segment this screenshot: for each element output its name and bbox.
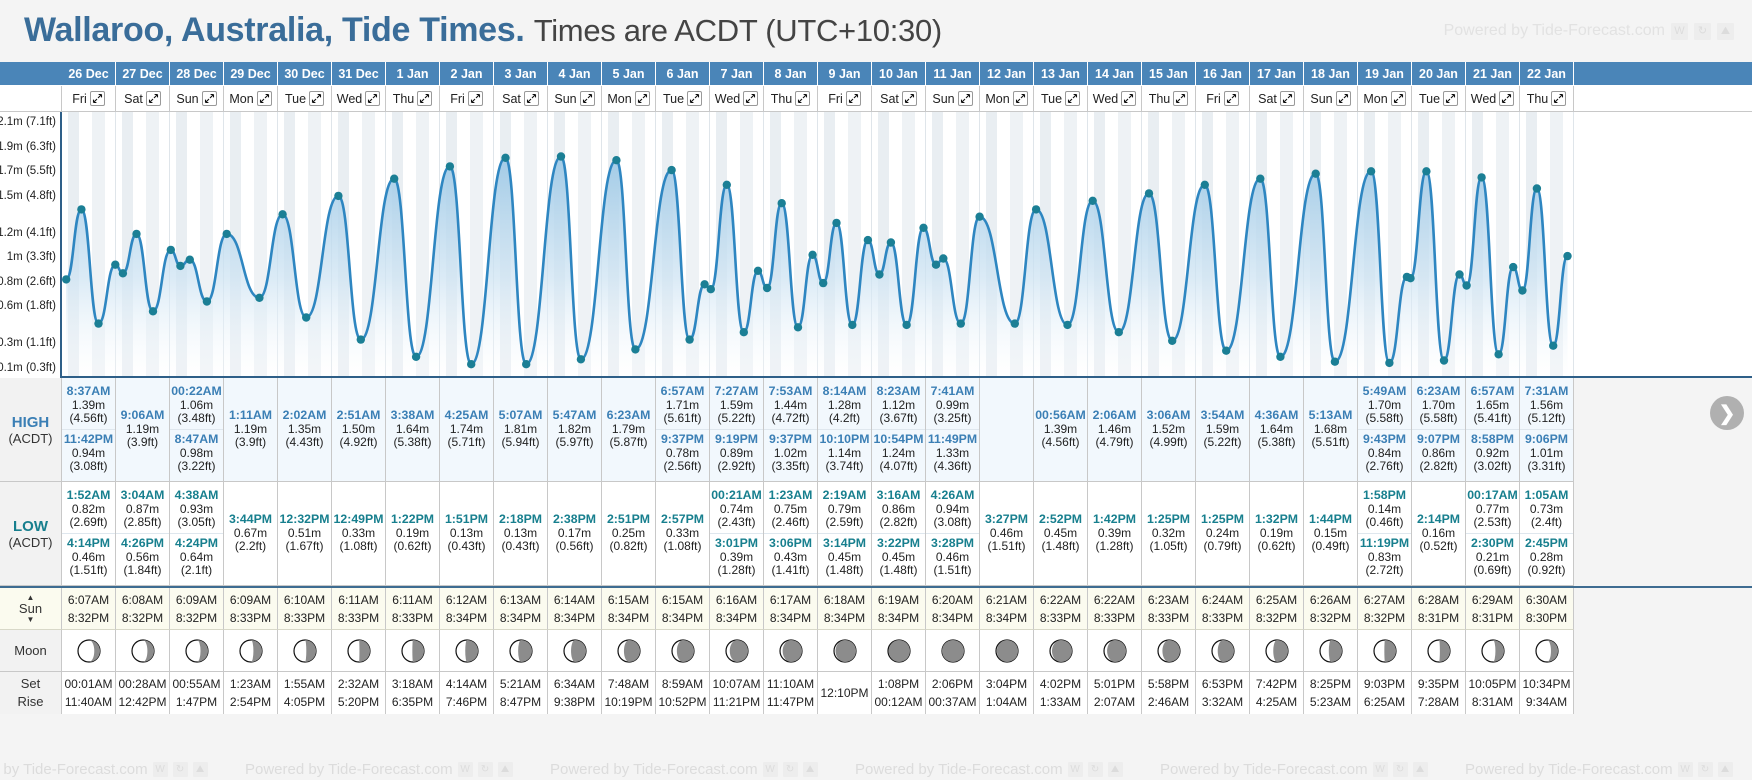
low-tide-event: 2:30PM0.21m(0.69ft): [1466, 533, 1519, 579]
tide-height-ft: (0.43ft): [440, 540, 493, 554]
moon-rise-time: 4:05PM: [284, 693, 325, 711]
date-header-cell[interactable]: 4 Jan: [548, 62, 602, 85]
weekday-label: Sun: [1310, 92, 1332, 106]
expand-icon[interactable]: [743, 91, 758, 106]
tide-height-ft: (5.58ft): [1358, 412, 1411, 426]
expand-icon[interactable]: [309, 91, 324, 106]
moon-setrise-cell: 2:32AM5:20PM: [332, 672, 386, 714]
tide-height-ft: (4.56ft): [62, 412, 115, 426]
expand-icon[interactable]: [202, 91, 217, 106]
tide-height-m: 0.25m: [602, 527, 655, 541]
weekday-cell: Wed: [710, 86, 764, 111]
moon-set-time: 10:34PM: [1522, 675, 1570, 693]
date-header-cell[interactable]: 11 Jan: [926, 62, 980, 85]
tide-height-ft: (3.74ft): [818, 460, 871, 474]
tide-height-ft: (2.92ft): [710, 460, 763, 474]
high-tide-event: 5:47AM1.82m(5.97ft): [548, 408, 601, 451]
tide-height-ft: (3.02ft): [1466, 460, 1519, 474]
low-tide-event: 3:16AM0.86m(2.82ft): [872, 488, 925, 531]
expand-icon[interactable]: [417, 91, 432, 106]
high-tide-cell: 8:37AM1.39m(4.56ft)11:42PM0.94m(3.08ft): [62, 378, 116, 482]
low-tide-event: 11:19PM0.83m(2.72ft): [1358, 533, 1411, 579]
moon-cell: [386, 630, 440, 672]
expand-icon[interactable]: [1391, 91, 1406, 106]
date-header-cell[interactable]: 26 Dec: [62, 62, 116, 85]
tide-height-ft: (1.48ft): [1034, 540, 1087, 554]
weekday-cell: Sat: [116, 86, 170, 111]
tide-time: 1:32PM: [1250, 513, 1303, 527]
footer-watermark-icon-3: ⛰: [193, 762, 208, 777]
weekday-cell: Sun: [1304, 86, 1358, 111]
tide-height-ft: (2.2ft): [224, 540, 277, 554]
tide-height-ft: (2.85ft): [116, 516, 169, 530]
tide-height-ft: (3.05ft): [170, 516, 223, 530]
moon-phase-icon: [1265, 639, 1289, 663]
moon-phase-icon: [509, 639, 533, 663]
moon-cell: [1250, 630, 1304, 672]
moon-cell: [494, 630, 548, 672]
moon-setrise-cell: 2:06PM00:37AM: [926, 672, 980, 714]
moon-phase-icon: [671, 639, 695, 663]
tide-height-ft: (3.31ft): [1520, 460, 1573, 474]
moon-set-time: 5:58PM: [1148, 675, 1189, 693]
expand-icon[interactable]: [846, 91, 861, 106]
sunset-time: 8:32PM: [1256, 609, 1297, 627]
expand-icon[interactable]: [90, 91, 105, 106]
tide-height-ft: (3.08ft): [62, 460, 115, 474]
y-axis-tick-label: 1.9m (6.3ft): [0, 141, 56, 153]
tide-time: 1:51PM: [440, 513, 493, 527]
date-header-cell[interactable]: 10 Jan: [872, 62, 926, 85]
date-header-corner: [0, 62, 62, 85]
sunset-time: 8:34PM: [824, 609, 865, 627]
low-tide-cell: 2:52PM0.45m(1.48ft): [1034, 482, 1088, 586]
low-tide-event: 2:51PM0.25m(0.82ft): [602, 512, 655, 555]
expand-icon[interactable]: [257, 91, 272, 106]
weekday-row: FriSatSunMonTueWedThuFriSatSunMonTueWedT…: [0, 86, 1752, 112]
moon-setrise-cell: 11:10AM11:47PM: [764, 672, 818, 714]
sun-cell: 6:23AM8:33PM: [1142, 588, 1196, 630]
tide-time: 5:47AM: [548, 409, 601, 423]
high-tide-event: 10:10PM1.14m(3.74ft): [818, 429, 871, 475]
weekday-cell: Fri: [818, 86, 872, 111]
tide-time: 6:57AM: [1466, 385, 1519, 399]
date-header-cell[interactable]: 15 Jan: [1142, 62, 1196, 85]
weekday-label: Mon: [229, 92, 253, 106]
low-tide-event: 00:21AM0.74m(2.43ft): [710, 488, 763, 531]
tide-height-ft: (5.51ft): [1304, 436, 1357, 450]
next-page-button[interactable]: ❯: [1710, 396, 1744, 430]
sunrise-time: 6:11AM: [338, 591, 378, 609]
moon-setrise-cell: 10:07AM11:21PM: [710, 672, 764, 714]
date-header-cell[interactable]: 1 Jan: [386, 62, 440, 85]
date-header-cell[interactable]: 5 Jan: [602, 62, 656, 85]
high-tide-event: 8:14AM1.28m(4.2ft): [818, 384, 871, 427]
moon-set-label: Set: [21, 675, 41, 693]
tide-height-m: 0.39m: [710, 551, 763, 565]
sun-cell: 6:27AM8:32PM: [1358, 588, 1412, 630]
weekday-cell: Thu: [764, 86, 818, 111]
sunset-time: 8:34PM: [446, 609, 487, 627]
moon-phase-icon: [455, 639, 479, 663]
sun-cell: 6:22AM8:33PM: [1034, 588, 1088, 630]
high-tide-event: 10:54PM1.24m(4.07ft): [872, 429, 925, 475]
y-axis-tick-label: 1m (3.3ft): [7, 251, 56, 263]
moon-setrise-cell: 5:21AM8:47PM: [494, 672, 548, 714]
date-header-cell[interactable]: 13 Jan: [1034, 62, 1088, 85]
moon-label: Moon: [0, 630, 62, 672]
low-tide-event: 1:22PM0.19m(0.62ft): [386, 512, 439, 555]
moon-set-time: 2:32AM: [338, 675, 379, 693]
sunset-time: 8:33PM: [1040, 609, 1081, 627]
expand-icon[interactable]: [1173, 91, 1188, 106]
moon-setrise-cell: 12:10PM: [818, 672, 872, 714]
moon-phase-icon: [887, 639, 911, 663]
weekday-cell: Fri: [62, 86, 116, 111]
high-tide-event: 6:57AM1.71m(5.61ft): [656, 384, 709, 427]
sunset-time: 8:31PM: [1472, 609, 1513, 627]
sunset-time: 8:33PM: [338, 609, 379, 627]
expand-icon[interactable]: [795, 91, 810, 106]
high-tide-event: 11:49PM1.33m(4.36ft): [926, 429, 979, 475]
moon-phase-icon: [1481, 639, 1505, 663]
sunset-time: 8:34PM: [716, 609, 757, 627]
high-tide-event: 2:02AM1.35m(4.43ft): [278, 408, 331, 451]
tide-height-m: 0.21m: [1466, 551, 1519, 565]
date-header-cell[interactable]: 18 Jan: [1304, 62, 1358, 85]
tide-height-m: 0.24m: [1196, 527, 1249, 541]
weekday-cell: Fri: [440, 86, 494, 111]
expand-icon[interactable]: [1224, 91, 1239, 106]
moon-rise-time: 1:04AM: [986, 693, 1027, 711]
tide-height-m: 1.39m: [62, 399, 115, 413]
high-tide-event: 9:19PM0.89m(2.92ft): [710, 429, 763, 475]
expand-icon[interactable]: [635, 91, 650, 106]
tide-time: 5:13AM: [1304, 409, 1357, 423]
sunset-time: 8:32PM: [176, 609, 217, 627]
low-tide-event: 1:52AM0.82m(2.69ft): [62, 488, 115, 531]
moon-rise-time: 2:46AM: [1148, 693, 1189, 711]
weekday-label: Sun: [176, 92, 198, 106]
date-header-cell[interactable]: 17 Jan: [1250, 62, 1304, 85]
sunrise-time: 6:09AM: [230, 591, 271, 609]
sunrise-time: 6:12AM: [446, 591, 487, 609]
tide-time: 00:56AM: [1034, 409, 1087, 423]
low-tide-cell: 1:52AM0.82m(2.69ft)4:14PM0.46m(1.51ft): [62, 482, 116, 586]
date-header-cell[interactable]: 3 Jan: [494, 62, 548, 85]
chart-y-axis: 2.1m (7.1ft)1.9m (6.3ft)1.7m (5.5ft)1.5m…: [0, 112, 62, 378]
tide-height-m: 1.52m: [1142, 423, 1195, 437]
moon-setrise-cell: 8:59AM10:52PM: [656, 672, 710, 714]
sunset-time: 8:34PM: [500, 609, 541, 627]
date-header-cell[interactable]: 22 Jan: [1520, 62, 1574, 85]
date-header-cell[interactable]: 6 Jan: [656, 62, 710, 85]
tide-height-m: 1.70m: [1412, 399, 1465, 413]
date-header-cell[interactable]: 29 Dec: [224, 62, 278, 85]
moon-cell: [872, 630, 926, 672]
tide-height-m: 0.15m: [1304, 527, 1357, 541]
footer-watermark-icon-2: ↻: [173, 762, 188, 777]
tide-height-ft: (4.07ft): [872, 460, 925, 474]
sun-cell: 6:21AM8:34PM: [980, 588, 1034, 630]
sun-cell: 6:20AM8:34PM: [926, 588, 980, 630]
date-header-cell[interactable]: 28 Dec: [170, 62, 224, 85]
sun-cell: 6:30AM8:30PM: [1520, 588, 1574, 630]
high-tide-cell: 2:51AM1.50m(4.92ft): [332, 378, 386, 482]
expand-icon[interactable]: [1065, 91, 1080, 106]
sunrise-time: 6:25AM: [1256, 591, 1297, 609]
moon-phase-icon: [77, 639, 101, 663]
tide-height-m: 0.28m: [1520, 551, 1573, 565]
moon-rise-time: 9:38PM: [554, 693, 595, 711]
tide-height-ft: (0.79ft): [1196, 540, 1249, 554]
tide-time: 4:24PM: [170, 537, 223, 551]
date-header-cell[interactable]: 31 Dec: [332, 62, 386, 85]
tide-height-ft: (5.22ft): [1196, 436, 1249, 450]
low-tide-cell: 1:58PM0.14m(0.46ft)11:19PM0.83m(2.72ft): [1358, 482, 1412, 586]
high-tide-event: 4:36AM1.64m(5.38ft): [1250, 408, 1303, 451]
tide-time: 9:37PM: [764, 433, 817, 447]
tide-height-m: 0.13m: [494, 527, 547, 541]
expand-icon[interactable]: [468, 91, 483, 106]
high-tide-row: HIGH (ACDT) 8:37AM1.39m(4.56ft)11:42PM0.…: [0, 378, 1752, 482]
tide-time: 3:14PM: [818, 537, 871, 551]
low-tide-event: 4:24PM0.64m(2.1ft): [170, 533, 223, 579]
sunrise-time: 6:27AM: [1364, 591, 1405, 609]
date-header-cell[interactable]: 16 Jan: [1196, 62, 1250, 85]
moon-rise-label: Rise: [17, 693, 43, 711]
low-tide-event: 2:38PM0.17m(0.56ft): [548, 512, 601, 555]
tide-time: 00:17AM: [1466, 489, 1519, 503]
tide-time: 7:27AM: [710, 385, 763, 399]
sunset-time: 8:30PM: [1526, 609, 1567, 627]
weekday-label: Fri: [828, 92, 843, 106]
date-header-cell[interactable]: 9 Jan: [818, 62, 872, 85]
moon-phase-icon: [617, 639, 641, 663]
low-tide-cell: 1:25PM0.32m(1.05ft): [1142, 482, 1196, 586]
tide-time: 2:52PM: [1034, 513, 1087, 527]
tide-time: 3:44PM: [224, 513, 277, 527]
moon-set-time: 7:42PM: [1256, 675, 1297, 693]
date-header-cell[interactable]: 8 Jan: [764, 62, 818, 85]
low-tide-label: LOW (ACDT): [0, 482, 62, 586]
sunrise-time: 6:07AM: [68, 591, 109, 609]
moon-rise-time: 00:12AM: [874, 693, 922, 711]
expand-icon[interactable]: [524, 91, 539, 106]
expand-icon[interactable]: [1121, 91, 1136, 106]
expand-icon[interactable]: [1551, 91, 1566, 106]
expand-icon[interactable]: [687, 91, 702, 106]
tide-height-m: 0.94m: [62, 447, 115, 461]
tide-height-ft: (5.22ft): [710, 412, 763, 426]
date-header-cell[interactable]: 14 Jan: [1088, 62, 1142, 85]
date-header-cell[interactable]: 12 Jan: [980, 62, 1034, 85]
tide-height-m: 0.32m: [1142, 527, 1195, 541]
high-tide-event: 9:07PM0.86m(2.82ft): [1412, 429, 1465, 475]
footer-watermark: Powered by Tide-Forecast.comW↻⛰: [1160, 761, 1428, 778]
tide-time: 9:06PM: [1520, 433, 1573, 447]
tide-time: 1:58PM: [1358, 489, 1411, 503]
expand-icon[interactable]: [365, 91, 380, 106]
tide-height-m: 0.51m: [278, 527, 331, 541]
tide-height-m: 1.70m: [1358, 399, 1411, 413]
weekday-label: Thu: [771, 92, 793, 106]
high-tide-event: 9:06PM1.01m(3.31ft): [1520, 429, 1573, 475]
date-header-cell[interactable]: 7 Jan: [710, 62, 764, 85]
moon-rise-time: 10:52PM: [658, 693, 706, 711]
high-tide-event: 3:38AM1.64m(5.38ft): [386, 408, 439, 451]
moon-rise-time: 9:34AM: [1526, 693, 1567, 711]
date-header-cell[interactable]: 2 Jan: [440, 62, 494, 85]
tide-height-m: 0.87m: [116, 503, 169, 517]
tide-height-ft: (1.51ft): [62, 564, 115, 578]
tide-height-m: 0.43m: [764, 551, 817, 565]
date-header-cell[interactable]: 21 Jan: [1466, 62, 1520, 85]
weekday-label: Wed: [715, 92, 740, 106]
tide-height-ft: (0.56ft): [548, 540, 601, 554]
moon-phase-icon: [185, 639, 209, 663]
expand-icon[interactable]: [1443, 91, 1458, 106]
tide-height-m: 0.86m: [1412, 447, 1465, 461]
moon-rise-time: 2:07AM: [1094, 693, 1135, 711]
moon-phase-icon: [401, 639, 425, 663]
footer-watermark-icon-1: W: [1678, 762, 1693, 777]
tide-height-ft: (0.69ft): [1466, 564, 1519, 578]
moon-rise-time: 2:54PM: [230, 693, 271, 711]
tide-height-m: 0.84m: [1358, 447, 1411, 461]
sunrise-time: 6:08AM: [122, 591, 163, 609]
high-tide-label-text: HIGH: [12, 414, 50, 431]
footer-watermark-icon-2: ↻: [1698, 762, 1713, 777]
date-header-cell[interactable]: 30 Dec: [278, 62, 332, 85]
moon-phase-icon: [1211, 639, 1235, 663]
expand-icon[interactable]: [1280, 91, 1295, 106]
tide-height-m: 1.71m: [656, 399, 709, 413]
sun-cell: 6:22AM8:33PM: [1088, 588, 1142, 630]
moon-setrise-cell: 5:58PM2:46AM: [1142, 672, 1196, 714]
tide-time: 3:06AM: [1142, 409, 1195, 423]
expand-icon[interactable]: [902, 91, 917, 106]
low-tide-event: 00:17AM0.77m(2.53ft): [1466, 488, 1519, 531]
sun-cell: 6:25AM8:32PM: [1250, 588, 1304, 630]
watermark-icon-1: W: [1671, 23, 1688, 40]
expand-icon[interactable]: [1013, 91, 1028, 106]
weekday-cell: Sun: [926, 86, 980, 111]
sun-row: ▲ Sun ▼ 6:07AM8:32PM6:08AM8:32PM6:09AM8:…: [0, 586, 1752, 630]
tide-time: 7:53AM: [764, 385, 817, 399]
weekday-label: Wed: [337, 92, 362, 106]
weekday-cell: Sat: [872, 86, 926, 111]
tide-time: 5:07AM: [494, 409, 547, 423]
low-tide-cell: 2:38PM0.17m(0.56ft): [548, 482, 602, 586]
sun-cell: 6:15AM8:34PM: [656, 588, 710, 630]
moon-phase-icon: [779, 639, 803, 663]
expand-icon[interactable]: [146, 91, 161, 106]
moon-set-time: 1:23AM: [230, 675, 271, 693]
low-tide-cell: 3:04AM0.87m(2.85ft)4:26PM0.56m(1.84ft): [116, 482, 170, 586]
date-header-cell[interactable]: 27 Dec: [116, 62, 170, 85]
expand-icon[interactable]: [958, 91, 973, 106]
tide-height-m: 1.19m: [116, 423, 169, 437]
tide-height-ft: (4.56ft): [1034, 436, 1087, 450]
tide-height-ft: (5.61ft): [656, 412, 709, 426]
sunrise-time: 6:22AM: [1094, 591, 1135, 609]
low-tide-cell: 2:19AM0.79m(2.59ft)3:14PM0.45m(1.48ft): [818, 482, 872, 586]
moon-set-time: 6:34AM: [554, 675, 595, 693]
sun-cell: 6:11AM8:33PM: [332, 588, 386, 630]
tide-time: 9:19PM: [710, 433, 763, 447]
low-tide-cell: 4:26AM0.94m(3.08ft)3:28PM0.46m(1.51ft): [926, 482, 980, 586]
high-tide-event: 6:23AM1.70m(5.58ft): [1412, 384, 1465, 427]
tide-height-ft: (1.48ft): [818, 564, 871, 578]
tide-chart: 2.1m (7.1ft)1.9m (6.3ft)1.7m (5.5ft)1.5m…: [0, 112, 1752, 378]
tide-height-m: 0.79m: [818, 503, 871, 517]
moon-rise-time: 1:33AM: [1040, 693, 1081, 711]
high-tide-event: 8:58PM0.92m(3.02ft): [1466, 429, 1519, 475]
sun-cell: 6:07AM8:32PM: [62, 588, 116, 630]
expand-icon[interactable]: [1499, 91, 1514, 106]
moon-set-time: 3:04PM: [986, 675, 1027, 693]
sunrise-time: 6:09AM: [176, 591, 217, 609]
expand-icon[interactable]: [580, 91, 595, 106]
high-tide-event: 9:06AM1.19m(3.9ft): [116, 408, 169, 451]
moon-setrise-row: Set Rise 00:01AM11:40AM00:28AM12:42PM00:…: [0, 672, 1752, 714]
low-tide-cell: 1:23AM0.75m(2.46ft)3:06PM0.43m(1.41ft): [764, 482, 818, 586]
weekday-label: Fri: [72, 92, 87, 106]
moon-setrise-cell: 7:48AM10:19PM: [602, 672, 656, 714]
tide-forecast-page: Wallaroo, Australia, Tide Times. Times a…: [0, 0, 1752, 780]
tide-time: 9:06AM: [116, 409, 169, 423]
moon-set-time: 00:01AM: [64, 675, 112, 693]
low-tide-event: 1:51PM0.13m(0.43ft): [440, 512, 493, 555]
weekday-cell: Tue: [656, 86, 710, 111]
high-tide-event: 5:07AM1.81m(5.94ft): [494, 408, 547, 451]
tide-height-ft: (3.22ft): [170, 460, 223, 474]
sunset-time: 8:34PM: [662, 609, 703, 627]
tide-height-ft: (5.41ft): [1466, 412, 1519, 426]
sunrise-time: 6:19AM: [878, 591, 919, 609]
moon-row: Moon: [0, 630, 1752, 672]
expand-icon[interactable]: [1336, 91, 1351, 106]
moon-rise-time: 11:47PM: [767, 693, 814, 711]
high-tide-cell: 9:06AM1.19m(3.9ft): [116, 378, 170, 482]
sunrise-time: 6:24AM: [1202, 591, 1243, 609]
tide-height-m: 0.75m: [764, 503, 817, 517]
high-tide-cell: 6:57AM1.71m(5.61ft)9:37PM0.78m(2.56ft): [656, 378, 710, 482]
tide-time: 2:06AM: [1088, 409, 1141, 423]
tide-height-m: 1.01m: [1520, 447, 1573, 461]
moon-phase-icon: [1157, 639, 1181, 663]
moon-rise-time: 4:25AM: [1256, 693, 1297, 711]
weekday-label: Sat: [502, 92, 521, 106]
tide-time: 2:51PM: [602, 513, 655, 527]
tide-time: 3:27PM: [980, 513, 1033, 527]
tide-height-m: 1.44m: [764, 399, 817, 413]
sunrise-time: 6:10AM: [284, 591, 325, 609]
date-header-cell[interactable]: 20 Jan: [1412, 62, 1466, 85]
footer-watermark: Powered by Tide-Forecast.comW↻⛰: [855, 761, 1123, 778]
tide-height-ft: (2.53ft): [1466, 516, 1519, 530]
weekday-label: Sun: [554, 92, 576, 106]
tide-height-m: 0.33m: [332, 527, 385, 541]
tide-height-m: 0.92m: [1466, 447, 1519, 461]
moon-set-time: 7:48AM: [608, 675, 649, 693]
weekday-cell: Mon: [1358, 86, 1412, 111]
weekday-label: Mon: [1363, 92, 1387, 106]
footer-watermark-icon-1: W: [153, 762, 168, 777]
moon-set-time: 5:01PM: [1094, 675, 1135, 693]
date-header-cell[interactable]: 19 Jan: [1358, 62, 1412, 85]
